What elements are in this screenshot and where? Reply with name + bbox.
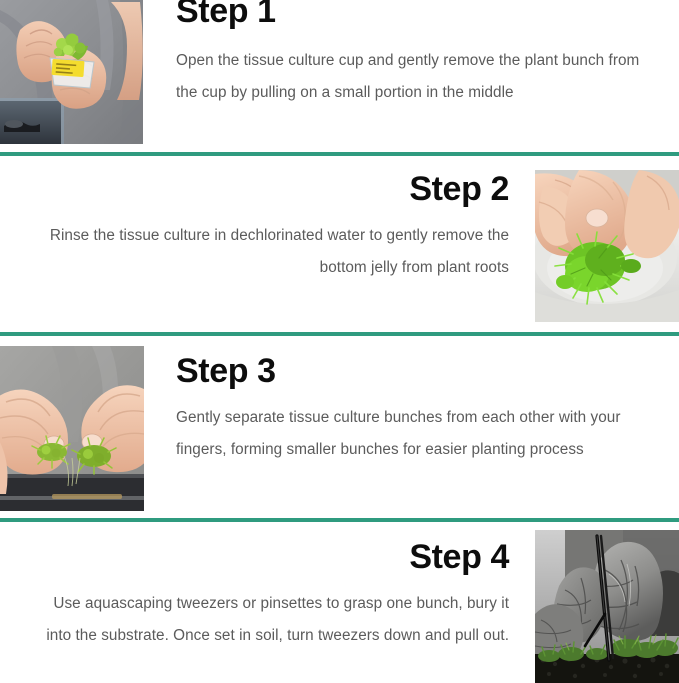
step-4-media (535, 530, 679, 683)
photo-planting-into-aquarium-substrate-with-tweezers (535, 530, 679, 683)
step-4-title: Step 4 (32, 540, 509, 574)
photo-rinsing-plant-in-white-bowl (535, 170, 679, 322)
photo-hands-opening-tissue-culture-cup (0, 0, 143, 144)
step-1-media (0, 0, 144, 144)
step-1-text: Open the tissue culture cup and gently r… (176, 45, 653, 110)
step-3-media (0, 346, 144, 511)
photo-separating-plant-bunches-with-fingers (0, 346, 144, 511)
step-block-1: Step 1 Open the tissue culture cup and g… (0, 0, 679, 152)
step-2-title: Step 2 (32, 172, 509, 206)
step-3-body: Step 3 Gently separate tissue culture bu… (144, 346, 679, 518)
step-4-text: Use aquascaping tweezers or pinsettes to… (32, 588, 509, 653)
step-1-body: Step 1 Open the tissue culture cup and g… (144, 0, 679, 152)
step-2-body: Step 2 Rinse the tissue culture in dechl… (0, 168, 535, 332)
step-block-4: Step 4 Use aquascaping tweezers or pinse… (0, 522, 679, 683)
step-block-3: Step 3 Gently separate tissue culture bu… (0, 336, 679, 518)
step-4-body: Step 4 Use aquascaping tweezers or pinse… (0, 530, 535, 683)
step-2-media (535, 170, 679, 322)
step-2-text: Rinse the tissue culture in dechlorinate… (32, 220, 509, 285)
step-3-title: Step 3 (176, 354, 653, 388)
step-3-text: Gently separate tissue culture bunches f… (176, 402, 653, 467)
step-1-title: Step 1 (176, 0, 653, 28)
step-block-2: Step 2 Rinse the tissue culture in dechl… (0, 156, 679, 332)
steps-infographic: Step 1 Open the tissue culture cup and g… (0, 0, 679, 683)
